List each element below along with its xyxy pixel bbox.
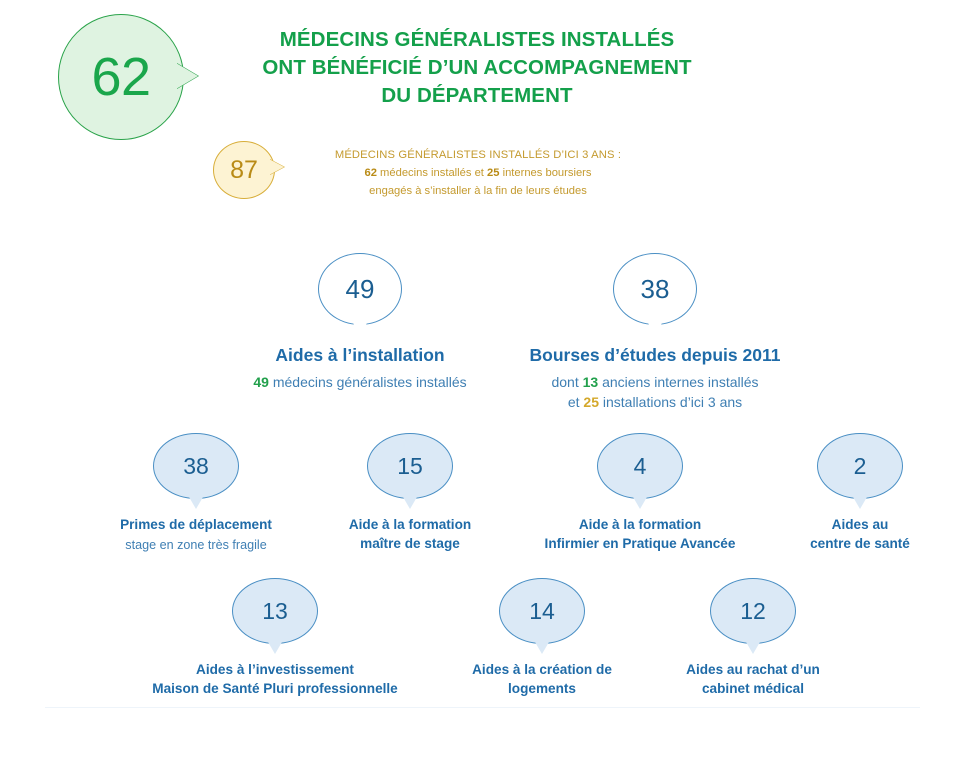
subheader-badge-value: 87 [230,158,258,183]
bubble-14-value: 14 [529,600,555,623]
bubble-tail-icon [189,497,203,509]
node-sub-post: anciens internes installés [598,374,758,390]
bubble-tail-icon [403,497,417,509]
node-bourses-etudes[interactable]: 38 Bourses d’études depuis 2011 dont 13 … [505,253,805,411]
node-sub-number-gold: 25 [583,394,599,410]
bubble-12-value: 12 [740,600,766,623]
node-sub-aides-installation: 49 médecins généralistes installés [215,373,505,391]
bubble-tail-icon [353,323,367,335]
node-aides-investissement[interactable]: 13 Aides à l’investissement Maison de Sa… [110,578,440,697]
bubble-4-value: 4 [634,455,647,478]
subheader-line-3: engagés à s’installer à la fin de leurs … [308,182,648,200]
node-title-ipa-l2: Infirmier en Pratique Avancée [515,536,765,553]
page-title: MÉDECINS GÉNÉRALISTES INSTALLÉS ONT BÉNÉ… [212,26,742,110]
node-title-logements-l2: logements [442,681,642,698]
bubble-15-value: 15 [397,455,423,478]
node-primes-deplacement[interactable]: 38 Primes de déplacement stage en zone t… [78,433,314,553]
bubble-12[interactable]: 12 [710,578,796,644]
header-badge-62: 62 [58,14,192,142]
node-title-aide-formation-l1: Aide à la formation [315,517,505,534]
bubble-tail-icon [746,642,760,654]
node-sub-number: 49 [253,374,269,390]
node-title-investissement-l2: Maison de Santé Pluri professionnelle [110,681,440,698]
node-sub-text: médecins généralistes installés [269,374,467,390]
bubble-13[interactable]: 13 [232,578,318,644]
bubble-15[interactable]: 15 [367,433,453,499]
infographic-canvas: 62 MÉDECINS GÉNÉRALISTES INSTALLÉS ONT B… [0,0,964,766]
node-title-aides-installation: Aides à l’installation [215,345,505,366]
bubble-49[interactable]: 49 [318,253,402,325]
bubble-2[interactable]: 2 [817,433,903,499]
bubble-13-value: 13 [262,600,288,623]
node-sub-post-2: installations d’ici 3 ans [599,394,742,410]
node-title-primes-deplacement: Primes de déplacement [78,517,314,534]
bubble-38-primes-value: 38 [183,455,209,478]
bubble-14[interactable]: 14 [499,578,585,644]
node-title-rachat-cabinet-l1: Aides au rachat d’un [650,662,856,679]
node-aides-creation-logements[interactable]: 14 Aides à la création de logements [442,578,642,697]
subheader-line-2-num-2: 25 [487,167,499,179]
bubble-38-primes[interactable]: 38 [153,433,239,499]
bubble-tail-icon [535,642,549,654]
node-title-ipa-l1: Aide à la formation [515,517,765,534]
bubble-tail-icon [633,497,647,509]
bubble-tail-icon [268,642,282,654]
node-title-aide-formation-l2: maître de stage [315,536,505,553]
headline-line-2: ONT BÉNÉFICIÉ D’UN ACCOMPAGNEMENT [212,54,742,82]
bubble-tail-icon [853,497,867,509]
node-aide-formation-maitre-stage[interactable]: 15 Aide à la formation maître de stage [315,433,505,552]
node-title-centre-sante-l2: centre de santé [790,536,930,553]
bubble-tail-icon [648,323,662,335]
bubble-4[interactable]: 4 [597,433,683,499]
node-sub-bourses-line-2: et 25 installations d’ici 3 ans [505,393,805,411]
gold-bubble-tail-icon [269,159,284,175]
subheader-line-2-num-1: 62 [365,167,377,179]
node-aides-centre-sante[interactable]: 2 Aides au centre de santé [790,433,930,552]
subheader-line-2: 62 médecins installés et 25 internes bou… [308,164,648,182]
subheader-line-2-post: internes boursiers [499,167,591,179]
gold-bubble-shape: 87 [213,141,275,199]
node-sub-primes-deplacement: stage en zone très fragile [78,537,314,553]
headline-line-1: MÉDECINS GÉNÉRALISTES INSTALLÉS [212,26,742,54]
node-aide-formation-ipa[interactable]: 4 Aide à la formation Infirmier en Prati… [515,433,765,552]
node-sub-pre: dont [551,374,582,390]
subheader-line-1: MÉDECINS GÉNÉRALISTES INSTALLÉS D’ICI 3 … [308,146,648,164]
subheader-badge-87: 87 [213,141,299,203]
node-sub-number-green: 13 [583,374,599,390]
node-sub-bourses-line-1: dont 13 anciens internes installés [505,373,805,391]
bubble-38-bourses-value: 38 [641,276,670,302]
green-bubble-tail-icon [176,63,198,89]
node-aides-installation[interactable]: 49 Aides à l’installation 49 médecins gé… [215,253,505,392]
subheader-text: MÉDECINS GÉNÉRALISTES INSTALLÉS D’ICI 3 … [308,146,648,200]
subheader-line-2-mid: médecins installés et [377,167,487,179]
node-title-rachat-cabinet-l2: cabinet médical [650,681,856,698]
green-bubble-shape: 62 [58,14,184,140]
node-sub-pre-2: et [568,394,584,410]
bubble-38-bourses[interactable]: 38 [613,253,697,325]
header-badge-value: 62 [91,50,150,104]
node-title-logements-l1: Aides à la création de [442,662,642,679]
node-title-centre-sante-l1: Aides au [790,517,930,534]
node-title-bourses-etudes: Bourses d’études depuis 2011 [505,345,805,366]
bottom-divider [45,707,920,708]
node-aides-rachat-cabinet[interactable]: 12 Aides au rachat d’un cabinet médical [650,578,856,697]
node-title-investissement-l1: Aides à l’investissement [110,662,440,679]
bubble-49-value: 49 [346,276,375,302]
bubble-2-value: 2 [854,455,867,478]
headline-line-3: DU DÉPARTEMENT [212,82,742,110]
